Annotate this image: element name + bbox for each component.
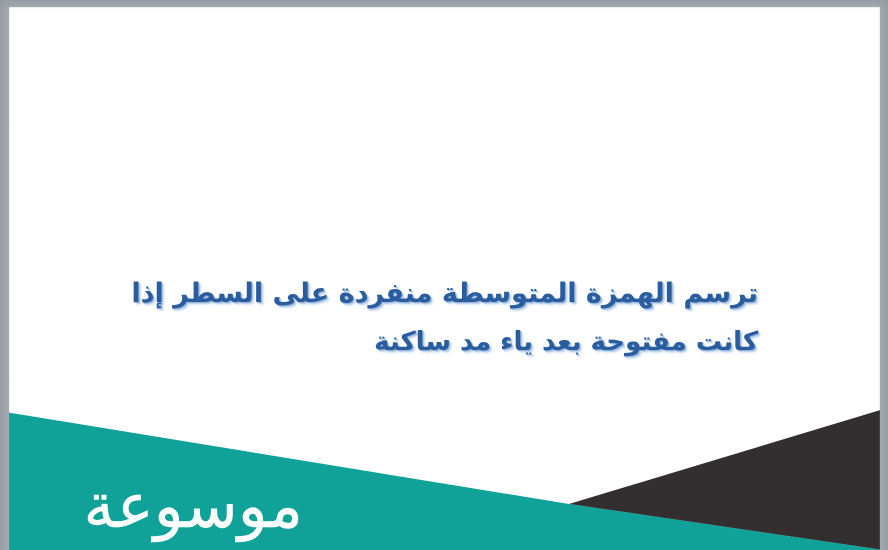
headline-line-2: كانت مفتوحة بعد ياء مد ساكنة [110,318,758,367]
slide-canvas: ترسم الهمزة المتوسطة منفردة على السطر إذ… [0,0,888,550]
headline-line-1: ترسم الهمزة المتوسطة منفردة على السطر إذ… [110,269,758,318]
slide-headline: ترسم الهمزة المتوسطة منفردة على السطر إذ… [110,269,758,367]
slide-body: ترسم الهمزة المتوسطة منفردة على السطر إذ… [9,7,880,550]
brand-logo[interactable]: موسوعة [23,466,303,546]
brand-logo-text: موسوعة [84,475,303,537]
